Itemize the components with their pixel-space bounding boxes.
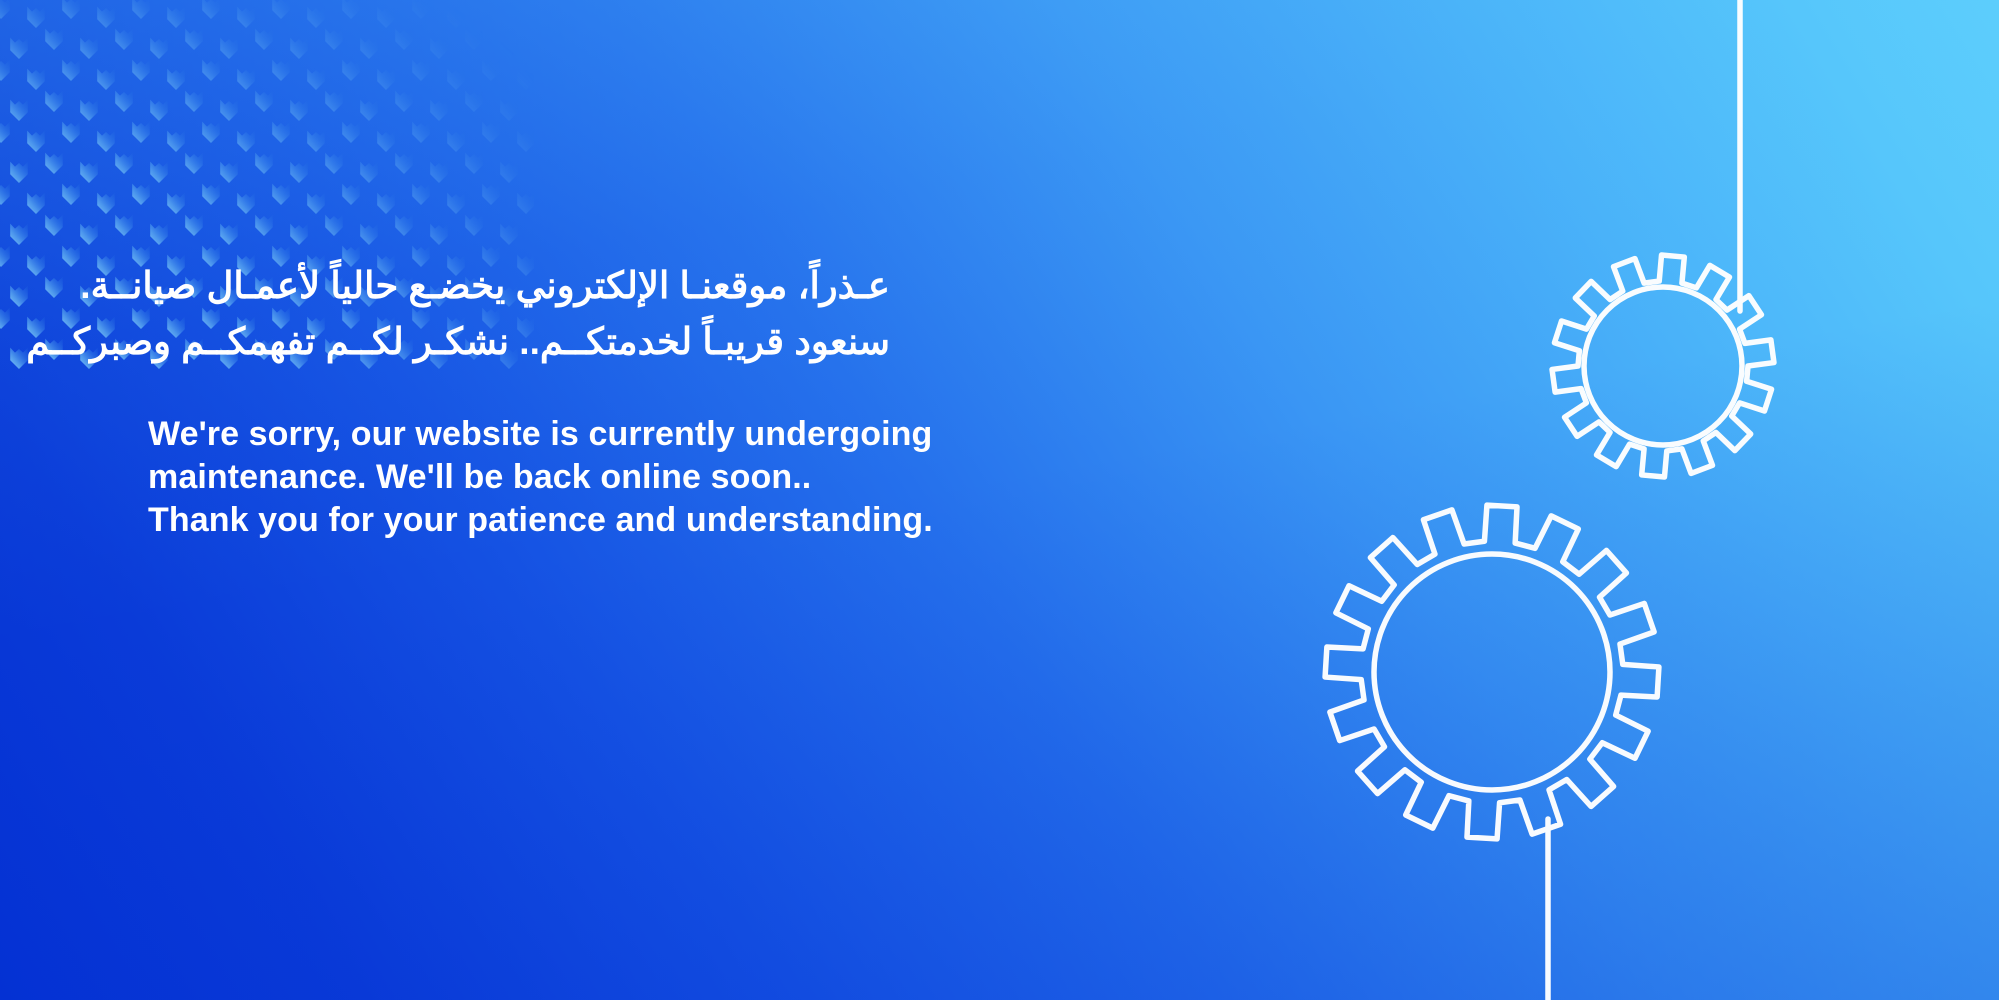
message-content: عـذراً، موقعنـا الإلكتروني يخضـع حالياً … bbox=[148, 258, 1148, 542]
maintenance-page: عـذراً، موقعنـا الإلكتروني يخضـع حالياً … bbox=[0, 0, 1999, 1000]
arabic-line-2: سنعود قريبـاً لخدمتكــم.. نشكـر لكــم تف… bbox=[148, 314, 890, 370]
arabic-line-1: عـذراً، موقعنـا الإلكتروني يخضـع حالياً … bbox=[148, 258, 890, 314]
english-line-1: We're sorry, our website is currently un… bbox=[148, 413, 1148, 456]
english-line-3: Thank you for your patience and understa… bbox=[148, 499, 1148, 542]
english-line-2: maintenance. We'll be back online soon.. bbox=[148, 456, 1148, 499]
arabic-message: عـذراً، موقعنـا الإلكتروني يخضـع حالياً … bbox=[148, 258, 890, 370]
english-message: We're sorry, our website is currently un… bbox=[148, 413, 1148, 542]
